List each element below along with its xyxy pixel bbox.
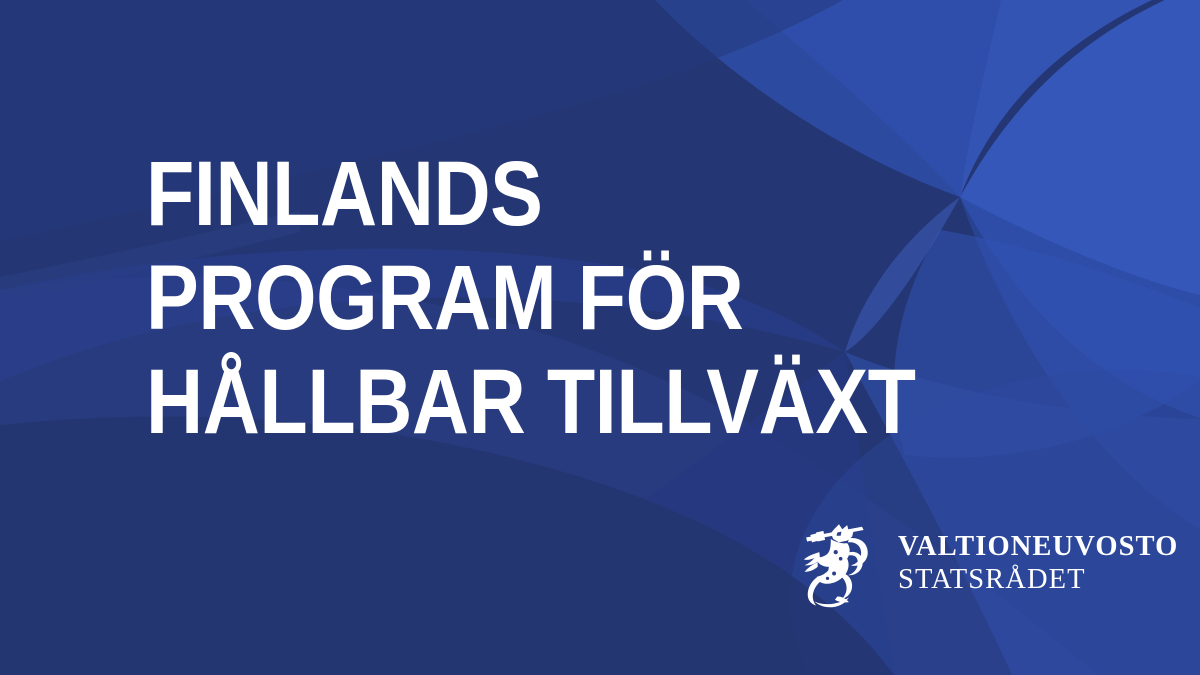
title-block: FINLANDS PROGRAM FÖR HÅLLBAR TILLVÄXT [146,142,966,454]
slide-canvas: FINLANDS PROGRAM FÖR HÅLLBAR TILLVÄXT [0,0,1200,675]
title-line-1: FINLANDS [146,142,851,246]
valtioneuvosto-logo[interactable]: VALTIONEUVOSTO STATSRÅDET [798,516,1178,608]
logo-organization-sv: STATSRÅDET [898,563,1178,596]
finnish-coat-of-arms-lion-icon [798,516,880,608]
logo-organization-fi: VALTIONEUVOSTO [898,530,1178,563]
logo-wordmark: VALTIONEUVOSTO STATSRÅDET [898,528,1178,596]
title-line-2: PROGRAM FÖR [146,246,851,350]
title-line-3: HÅLLBAR TILLVÄXT [146,350,851,454]
